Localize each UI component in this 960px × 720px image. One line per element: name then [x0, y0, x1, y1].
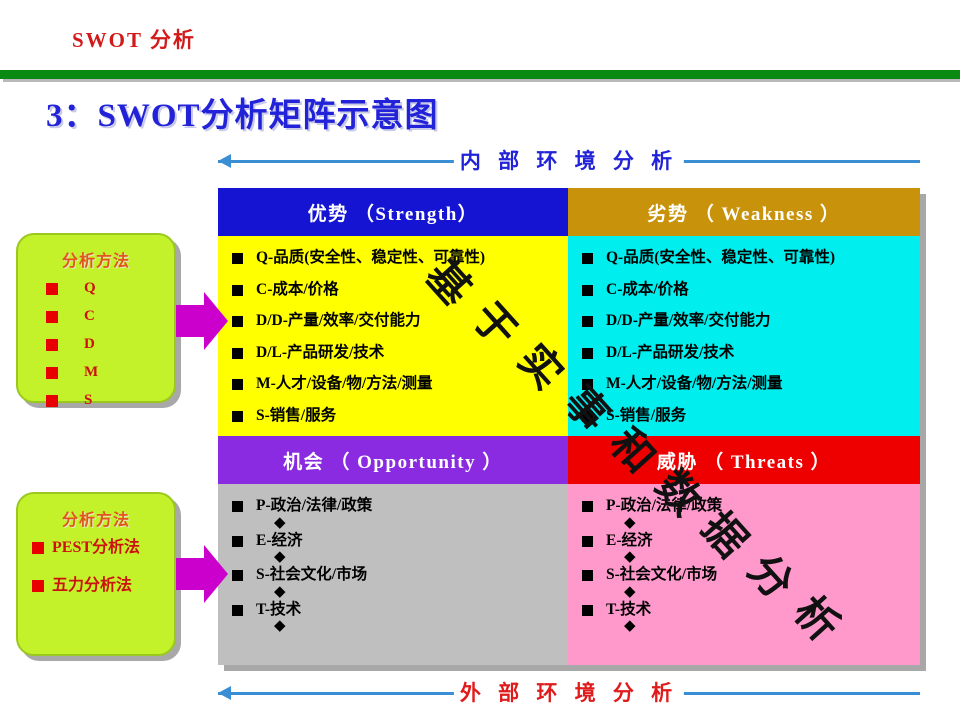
list-item: S-社会文化/市场	[582, 567, 912, 583]
square-bullet-icon	[232, 285, 243, 296]
arrow-right-icon-bottom	[176, 545, 228, 603]
quadrant-opportunity-header: 机会 （ Opportunity ）	[218, 436, 568, 484]
list-item-label: D/D-产量/效率/交付能力	[256, 313, 420, 329]
list-item: S	[18, 393, 174, 408]
list-item-label: D	[84, 337, 95, 352]
list-item: Q	[18, 281, 174, 296]
list-item: D	[18, 337, 174, 352]
diamond-bullet-icon: ◆	[232, 550, 560, 565]
arrow-right-icon-top	[176, 292, 228, 350]
list-item-label: M-人才/设备/物/方法/测量	[606, 376, 783, 392]
quadrant-threats-header: 威胁 （ Threats ）	[568, 436, 920, 484]
diamond-bullet-icon: ◆	[582, 550, 912, 565]
square-bullet-icon	[46, 311, 58, 323]
quadrant-opportunity-body: P-政治/法律/政策◆E-经济◆S-社会文化/市场◆T-技术◆	[218, 484, 568, 665]
quadrant-strength-body: Q-品质(安全性、稳定性、可靠性)C-成本/价格D/D-产量/效率/交付能力D/…	[218, 236, 568, 436]
square-bullet-icon	[32, 580, 44, 592]
square-bullet-icon	[582, 316, 593, 327]
page-title: 3：SWOT分析矩阵示意图	[46, 88, 439, 136]
arrow-tip	[204, 545, 228, 603]
axis-top-label: 内 部 环 境 分 析	[454, 145, 684, 175]
list-item: M-人才/设备/物/方法/测量	[582, 376, 912, 392]
arrow-shaft	[176, 558, 206, 590]
diamond-bullet-icon: ◆	[582, 619, 912, 634]
green-divider-shadow	[3, 79, 960, 82]
quadrant-weakness-body: Q-品质(安全性、稳定性、可靠性)C-成本/价格D/D-产量/效率/交付能力D/…	[568, 236, 920, 436]
square-bullet-icon	[582, 253, 593, 264]
list-item: T-技术	[232, 602, 560, 618]
list-item: 五力分析法	[18, 578, 174, 594]
list-item: C	[18, 309, 174, 324]
list-item: P-政治/法律/政策	[232, 498, 560, 514]
list-item: D/D-产量/效率/交付能力	[232, 313, 560, 329]
diamond-bullet-icon: ◆	[232, 619, 560, 634]
arrow-left-icon	[218, 154, 231, 168]
list-item: D/D-产量/效率/交付能力	[582, 313, 912, 329]
list-item: D/L-产品研发/技术	[232, 345, 560, 361]
list-item-label: S-社会文化/市场	[256, 567, 367, 583]
square-bullet-icon	[582, 285, 593, 296]
list-item: T-技术	[582, 602, 912, 618]
list-item-label: D/D-产量/效率/交付能力	[606, 313, 770, 329]
list-item-label: E-经济	[606, 533, 653, 549]
sidebox-pest-title: 分析方法	[18, 506, 174, 530]
quadrant-weakness-header: 劣势 （ Weakness ）	[568, 188, 920, 236]
square-bullet-icon	[582, 605, 593, 616]
list-item-label: D/L-产品研发/技术	[606, 345, 734, 361]
list-item: P-政治/法律/政策	[582, 498, 912, 514]
square-bullet-icon	[582, 501, 593, 512]
list-item: C-成本/价格	[232, 282, 560, 298]
list-item-label: Q-品质(安全性、稳定性、可靠性)	[606, 250, 835, 266]
square-bullet-icon	[232, 570, 243, 581]
list-item-label: S	[84, 393, 92, 408]
square-bullet-icon	[46, 367, 58, 379]
list-item: M	[18, 365, 174, 380]
list-item-label: C	[84, 309, 95, 324]
square-bullet-icon	[46, 395, 58, 407]
list-item-label: P-政治/法律/政策	[606, 498, 722, 514]
square-bullet-icon	[46, 283, 58, 295]
square-bullet-icon	[232, 501, 243, 512]
square-bullet-icon	[582, 411, 593, 422]
sidebox-qcdms-title: 分析方法	[18, 247, 174, 271]
list-item: Q-品质(安全性、稳定性、可靠性)	[582, 250, 912, 266]
square-bullet-icon	[582, 536, 593, 547]
list-item-label: PEST分析法	[52, 540, 140, 556]
list-item-label: S-销售/服务	[606, 408, 686, 424]
list-item-label: C-成本/价格	[256, 282, 339, 298]
list-item-label: Q-品质(安全性、稳定性、可靠性)	[256, 250, 485, 266]
square-bullet-icon	[582, 379, 593, 390]
list-item-label: E-经济	[256, 533, 303, 549]
list-item-label: D/L-产品研发/技术	[256, 345, 384, 361]
list-item-label: M-人才/设备/物/方法/测量	[256, 376, 433, 392]
list-item: E-经济	[582, 533, 912, 549]
quadrant-strength-header: 优势 （Strength）	[218, 188, 568, 236]
list-item: C-成本/价格	[582, 282, 912, 298]
square-bullet-icon	[232, 348, 243, 359]
list-item: M-人才/设备/物/方法/测量	[232, 376, 560, 392]
square-bullet-icon	[46, 339, 58, 351]
list-item-label: T-技术	[256, 602, 301, 618]
diamond-bullet-icon: ◆	[232, 585, 560, 600]
swot-matrix: 优势 （Strength） Q-品质(安全性、稳定性、可靠性)C-成本/价格D/…	[218, 188, 920, 665]
slide-canvas: SWOT 分析 3：SWOT分析矩阵示意图 内 部 环 境 分 析 优势 （St…	[0, 0, 960, 720]
square-bullet-icon	[232, 605, 243, 616]
list-item-label: M	[84, 365, 98, 380]
square-bullet-icon	[582, 570, 593, 581]
diamond-bullet-icon: ◆	[232, 516, 560, 531]
external-environment-axis: 外 部 环 境 分 析	[218, 678, 920, 708]
square-bullet-icon	[232, 379, 243, 390]
diamond-bullet-icon: ◆	[582, 585, 912, 600]
list-item: S-社会文化/市场	[232, 567, 560, 583]
sidebox-qcdms-list: QCDMS	[18, 281, 174, 408]
quadrant-threats: 威胁 （ Threats ） P-政治/法律/政策◆E-经济◆S-社会文化/市场…	[568, 436, 920, 665]
slide-kicker: SWOT 分析	[72, 24, 196, 54]
list-item: S-销售/服务	[582, 408, 912, 424]
list-item-label: Q	[84, 281, 96, 296]
sidebox-qcdms: 分析方法 QCDMS	[16, 233, 176, 403]
square-bullet-icon	[232, 536, 243, 547]
list-item-label: S-社会文化/市场	[606, 567, 717, 583]
list-item-label: C-成本/价格	[606, 282, 689, 298]
list-item: D/L-产品研发/技术	[582, 345, 912, 361]
list-item: PEST分析法	[18, 540, 174, 556]
axis-bottom-label: 外 部 环 境 分 析	[454, 677, 684, 707]
arrow-left-icon	[218, 686, 231, 700]
list-item: Q-品质(安全性、稳定性、可靠性)	[232, 250, 560, 266]
list-item-label: T-技术	[606, 602, 651, 618]
list-item-label: P-政治/法律/政策	[256, 498, 372, 514]
quadrant-opportunity: 机会 （ Opportunity ） P-政治/法律/政策◆E-经济◆S-社会文…	[218, 436, 568, 665]
diamond-bullet-icon: ◆	[582, 516, 912, 531]
quadrant-weakness: 劣势 （ Weakness ） Q-品质(安全性、稳定性、可靠性)C-成本/价格…	[568, 188, 920, 436]
list-item-label: 五力分析法	[52, 578, 132, 594]
quadrant-threats-body: P-政治/法律/政策◆E-经济◆S-社会文化/市场◆T-技术◆	[568, 484, 920, 665]
square-bullet-icon	[32, 542, 44, 554]
quadrant-strength: 优势 （Strength） Q-品质(安全性、稳定性、可靠性)C-成本/价格D/…	[218, 188, 568, 436]
internal-environment-axis: 内 部 环 境 分 析	[218, 146, 920, 176]
list-item: E-经济	[232, 533, 560, 549]
square-bullet-icon	[232, 411, 243, 422]
list-item: S-销售/服务	[232, 408, 560, 424]
arrow-tip	[204, 292, 228, 350]
square-bullet-icon	[582, 348, 593, 359]
arrow-shaft	[176, 305, 206, 337]
sidebox-pest: 分析方法 PEST分析法五力分析法	[16, 492, 176, 656]
sidebox-pest-list: PEST分析法五力分析法	[18, 540, 174, 594]
list-item-label: S-销售/服务	[256, 408, 336, 424]
green-divider-bar	[0, 70, 960, 79]
square-bullet-icon	[232, 316, 243, 327]
square-bullet-icon	[232, 253, 243, 264]
